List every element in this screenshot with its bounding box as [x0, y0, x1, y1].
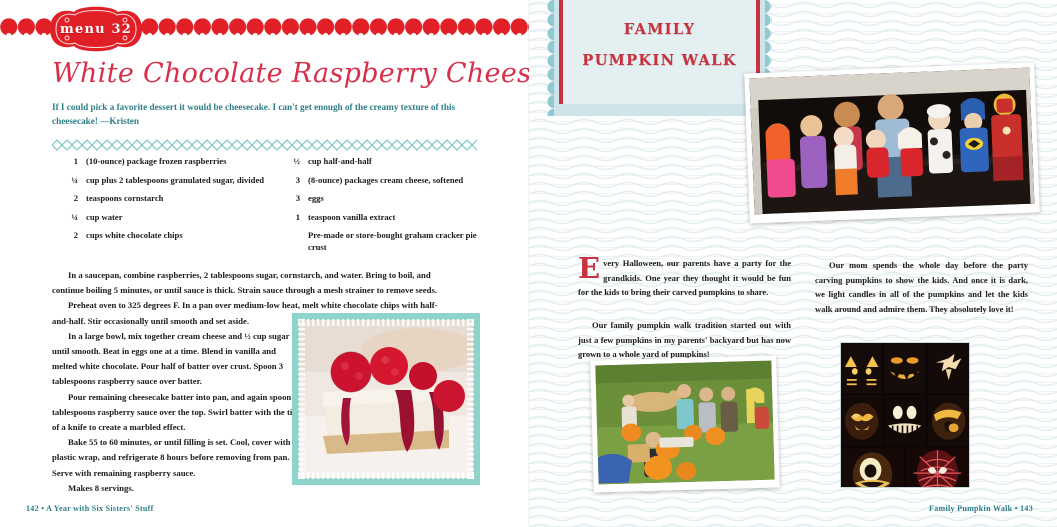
- carved-pumpkins-grid: [840, 342, 970, 488]
- cat-pumpkin-icon: [841, 343, 882, 393]
- menu-badge-label: menu 32: [40, 4, 152, 54]
- direction-step: Bake 55 to 60 minutes, or until filling …: [52, 435, 300, 481]
- ingredient-text: cup water: [86, 212, 270, 224]
- ingredient-text: teaspoon vanilla extract: [308, 212, 492, 224]
- story-paragraph-1-text: very Halloween, our parents have a party…: [578, 258, 791, 297]
- book-page-spread: menu 32 White Chocolate Raspberry Cheese…: [0, 0, 1057, 527]
- bat-pumpkin-icon: [928, 343, 969, 393]
- page-gutter: [528, 0, 530, 527]
- pumpkin-row: [841, 343, 969, 393]
- ingredients-column-1: 1 (10-ounce) package frozen raspberries …: [62, 156, 270, 260]
- ingredient-qty: [284, 230, 308, 253]
- ingredient-qty: 2: [62, 193, 86, 205]
- small-bat-jack-o-lantern: [841, 395, 882, 445]
- ingredient-qty: ½: [284, 156, 308, 168]
- direction-step: In a large bowl, mix together cream chee…: [52, 329, 300, 390]
- one-eye-pumpkin-icon: [841, 448, 904, 489]
- ingredient-text: cup plus 2 tablespoons granulated sugar,…: [86, 175, 270, 187]
- ingredient-qty: ¼: [62, 175, 86, 187]
- family-costumes-photo-image: [749, 68, 1034, 215]
- ingredient-qty: 3: [284, 193, 308, 205]
- left-page: menu 32 White Chocolate Raspberry Cheese…: [0, 0, 529, 527]
- cheesecake-photo-image: [299, 320, 473, 478]
- ingredient-text: (10-ounce) package frozen raspberries: [86, 156, 270, 168]
- ingredient-row: 3 (8-ounce) packages cream cheese, softe…: [284, 175, 492, 187]
- pumpkin-patch-photo-image: [595, 361, 774, 485]
- ingredient-qty: ¼: [62, 212, 86, 224]
- ingredient-row: 1 (10-ounce) package frozen raspberries: [62, 156, 270, 168]
- ingredient-row: 2 cups white chocolate chips: [62, 230, 270, 242]
- one-eyed-monster-jack-o-lantern: [841, 448, 904, 489]
- ingredient-text: eggs: [308, 193, 492, 205]
- recipe-blurb: If I could pick a favorite dessert it wo…: [52, 100, 472, 128]
- zigzag-divider: [52, 138, 477, 150]
- ingredient-text: (8-ounce) packages cream cheese, softene…: [308, 175, 492, 187]
- pumpkin-patch-photo: [590, 355, 780, 492]
- family-costumes-photo: [744, 62, 1040, 223]
- family-photo-illustration-icon: [749, 68, 1034, 215]
- recipe-title: White Chocolate Raspberry Cheesecake: [52, 58, 502, 89]
- ingredient-qty: 1: [62, 156, 86, 168]
- ingredient-row: 2 teaspoons cornstarch: [62, 193, 270, 205]
- scarecrow-jack-o-lantern: [928, 395, 969, 445]
- skull-pumpkin-icon: [884, 395, 925, 445]
- pumpkin-row: [841, 395, 969, 445]
- flying-bat-jack-o-lantern: [928, 343, 969, 393]
- ingredient-qty: 3: [284, 175, 308, 187]
- ingredients-list: 1 (10-ounce) package frozen raspberries …: [62, 156, 492, 260]
- cat-face-jack-o-lantern: [841, 343, 882, 393]
- ingredients-column-2: ½ cup half-and-half 3 (8-ounce) packages…: [284, 156, 492, 260]
- story-paragraph-3: Our mom spends the whole day before the …: [815, 258, 1028, 316]
- zigzag-icon: [52, 139, 477, 151]
- grin-pumpkin-icon: [884, 343, 925, 393]
- ingredient-row: 3 eggs: [284, 193, 492, 205]
- spiderman-web-pumpkin-icon: [906, 448, 969, 489]
- scarecrow-pumpkin-icon: [928, 395, 969, 445]
- ingredient-row: ¼ cup plus 2 tablespoons granulated suga…: [62, 175, 270, 187]
- right-page-footer: Family Pumpkin Walk • 143: [929, 504, 1033, 513]
- direction-step: Pour remaining cheesecake batter into pa…: [52, 390, 300, 436]
- ingredient-text: Pre-made or store-bought graham cracker …: [308, 230, 492, 253]
- ingredient-text: cup half-and-half: [308, 156, 492, 168]
- cheesecake-photo: [292, 313, 480, 485]
- direction-step: In a saucepan, combine raspberries, 2 ta…: [52, 268, 452, 298]
- ingredient-text: teaspoons cornstarch: [86, 193, 270, 205]
- small-bat-pumpkin-icon: [841, 395, 882, 445]
- drop-cap: E: [578, 257, 600, 279]
- skull-jack-o-lantern: [884, 395, 925, 445]
- ingredient-text: cups white chocolate chips: [86, 230, 270, 242]
- story-paragraph-1: Every Halloween, our parents have a part…: [578, 256, 791, 300]
- ingredient-row: ½ cup half-and-half: [284, 156, 492, 168]
- section-title-panel: FAMILY PUMPKIN WALK: [559, 0, 760, 104]
- pumpkin-patch-illustration-icon: [595, 361, 774, 485]
- ingredient-row: Pre-made or store-bought graham cracker …: [284, 230, 492, 253]
- direction-step: Makes 8 servings.: [52, 481, 300, 496]
- toothy-grin-jack-o-lantern: [884, 343, 925, 393]
- menu-badge: menu 32: [40, 4, 152, 54]
- ingredient-qty: 2: [62, 230, 86, 242]
- section-title-line-1: FAMILY: [624, 21, 696, 38]
- pumpkin-row: [841, 448, 969, 489]
- ingredient-qty: 1: [284, 212, 308, 224]
- section-title-line-2: PUMPKIN WALK: [582, 52, 736, 69]
- section-title-card: FAMILY PUMPKIN WALK: [547, 0, 772, 116]
- ingredient-row: 1 teaspoon vanilla extract: [284, 212, 492, 224]
- cheesecake-illustration-icon: [299, 320, 473, 478]
- ingredient-row: ¼ cup water: [62, 212, 270, 224]
- spiderman-web-jack-o-lantern: [906, 448, 969, 489]
- left-page-footer: 142 • A Year with Six Sisters' Stuff: [26, 504, 154, 513]
